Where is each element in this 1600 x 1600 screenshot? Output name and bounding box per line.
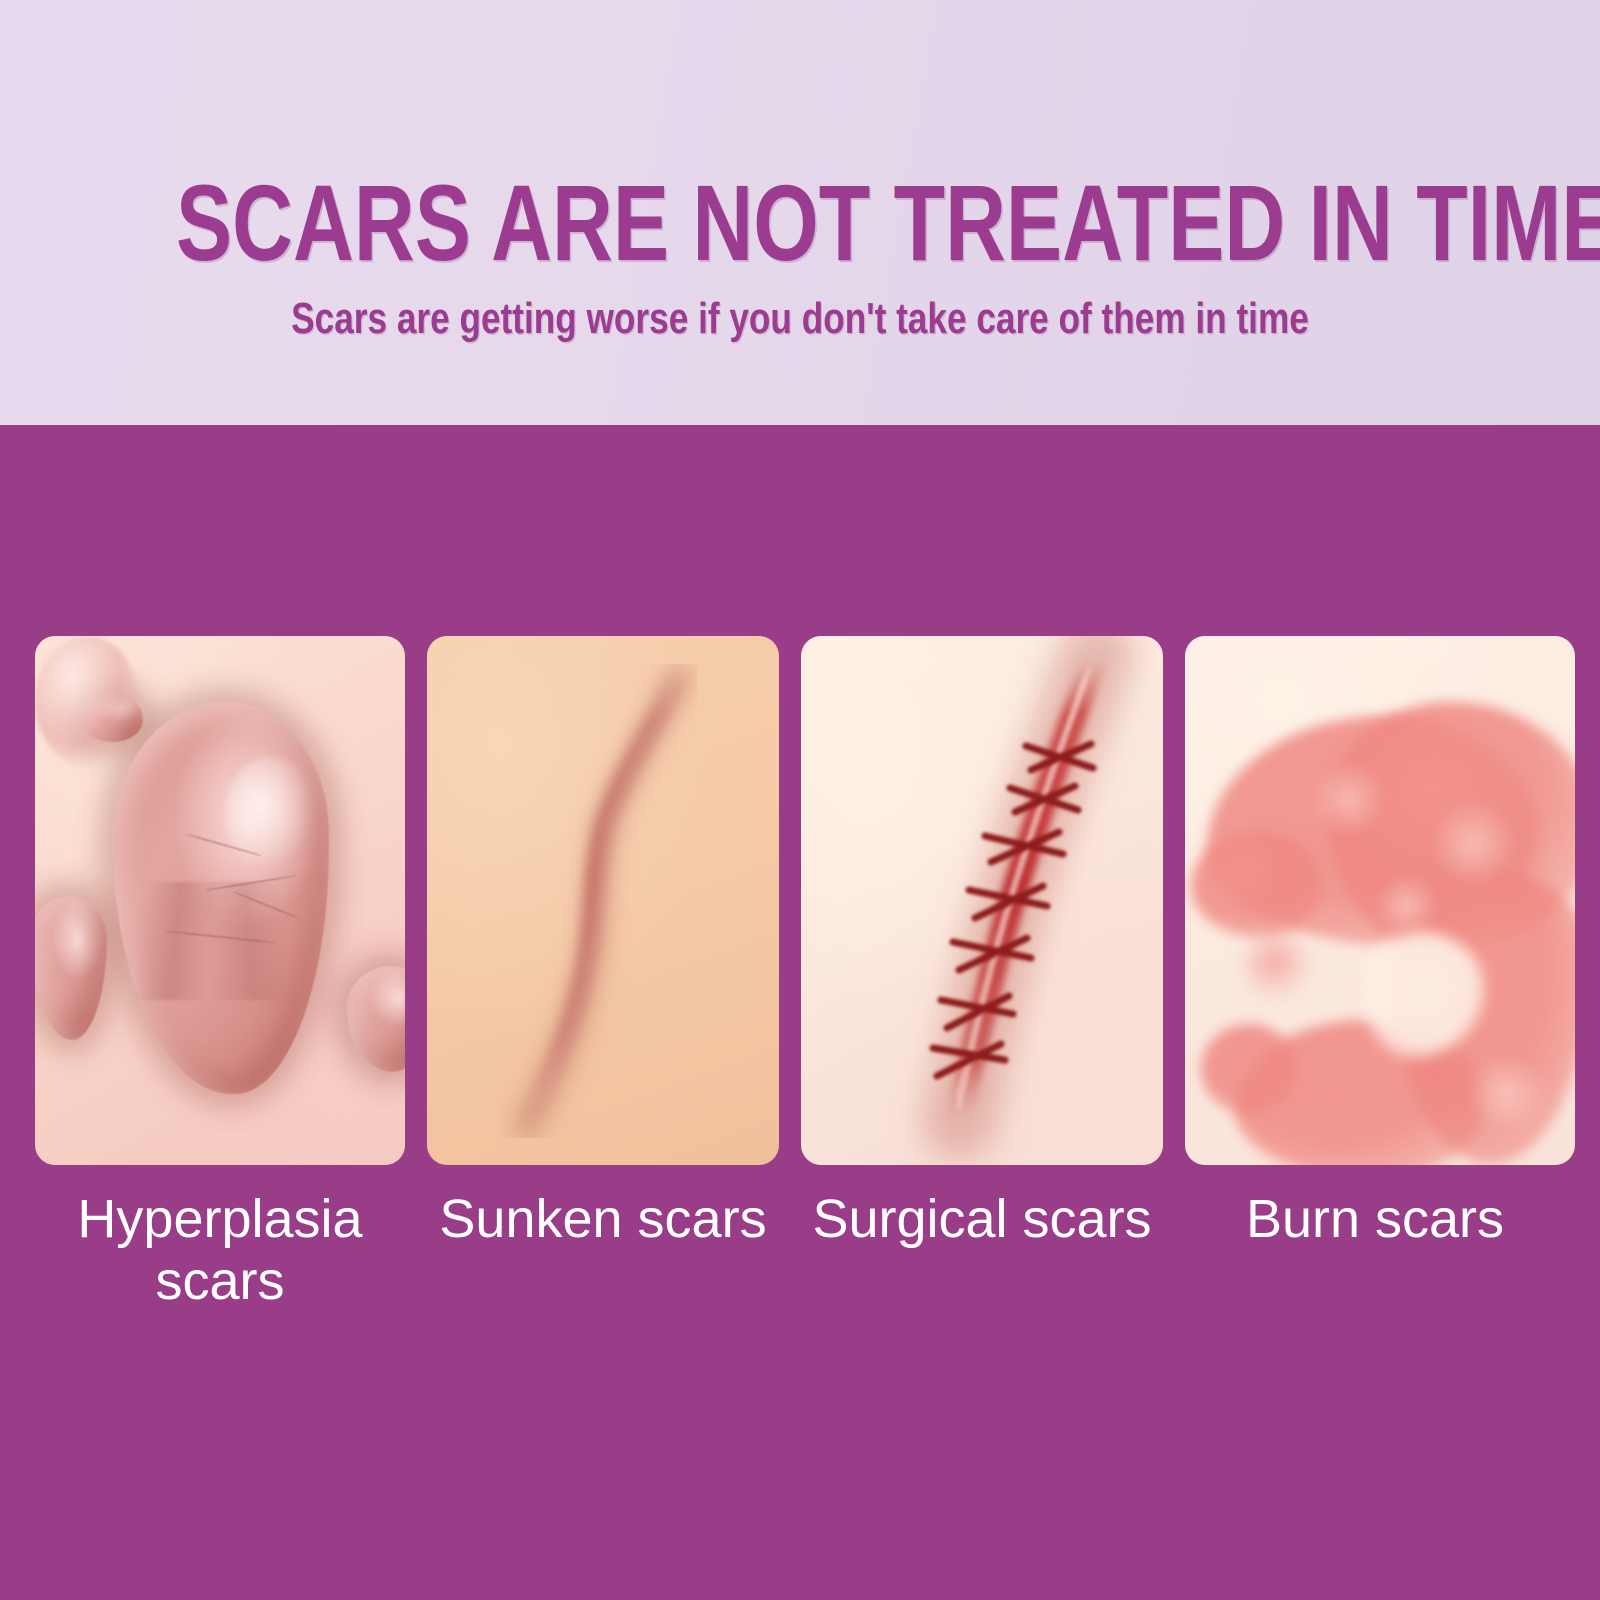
hyperplasia-scar-image xyxy=(35,636,405,1165)
scar-card-hyperplasia[interactable] xyxy=(35,636,405,1165)
header-band: SCARS ARE NOT TREATED IN TIME Scars are … xyxy=(0,0,1600,425)
page-subtitle: Scars are getting worse if you don't tak… xyxy=(160,294,1440,344)
burn-mottling xyxy=(1425,802,1521,884)
burn-patch-left-edge xyxy=(1191,832,1323,938)
caption-surgical-scars: Surgical scars xyxy=(801,1188,1163,1250)
keloid-highlight-lobe xyxy=(35,636,139,766)
burn-spot-isolated xyxy=(1243,934,1313,1000)
burn-patch-bottom-left xyxy=(1201,1024,1297,1114)
scar-card-sunken[interactable] xyxy=(427,636,779,1165)
scar-type-gallery xyxy=(0,636,1600,1165)
caption-row: Hyperplasia scars Sunken scars Surgical … xyxy=(0,1188,1600,1348)
caption-burn-scars: Burn scars xyxy=(1175,1188,1575,1250)
burn-scar-image xyxy=(1185,636,1575,1165)
sunken-scar-image xyxy=(427,636,779,1165)
caption-hyperplasia-scars: Hyperplasia scars xyxy=(35,1188,405,1312)
sunken-scar-line xyxy=(499,664,697,1138)
caption-sunken-scars: Sunken scars xyxy=(415,1188,791,1250)
burn-mottling xyxy=(1371,876,1443,936)
scar-card-surgical[interactable] xyxy=(801,636,1163,1165)
burn-mottling xyxy=(1461,1056,1551,1130)
scar-card-burn[interactable] xyxy=(1185,636,1575,1165)
burn-mottling xyxy=(1305,764,1391,834)
surgical-scar-image xyxy=(801,636,1163,1165)
page-title: SCARS ARE NOT TREATED IN TIME xyxy=(176,168,1424,278)
incision-with-sutures xyxy=(801,636,1163,1165)
